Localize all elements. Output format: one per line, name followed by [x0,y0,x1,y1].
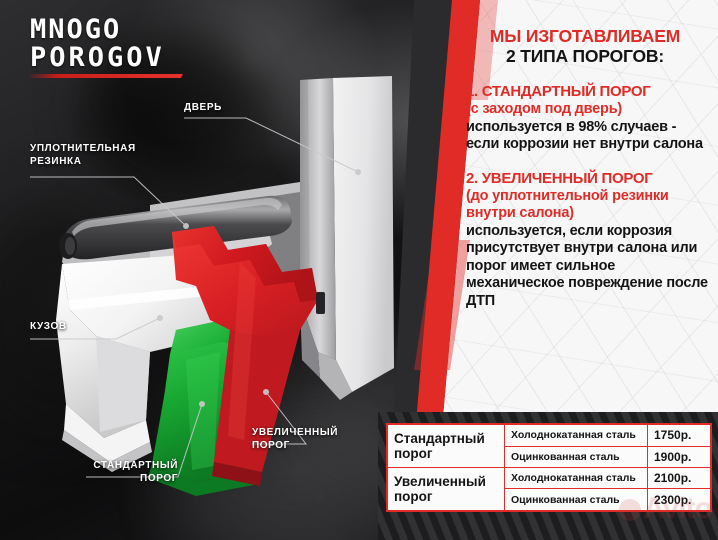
price-value: 2300р. [648,489,712,511]
info-block-body: используется в 98% случаев - если корроз… [466,119,710,154]
callout-label-increased-sill: УВЕЛИЧЕННЫЙ ПОРОГ [252,426,362,452]
table-row: Увеличенный порог Холоднокатанная сталь … [387,468,711,489]
table-row: Стандартный порог Холоднокатанная сталь … [387,424,711,446]
price-value: 1900р. [648,446,712,468]
callout-label-standard-sill: СТАНДАРТНЫЙ ПОРОГ [86,459,178,485]
logo-underline [29,74,183,78]
brand-logo: MNOGO POROGOV [30,16,182,78]
heading-line-black: 2 ТИПА ПОРОГОВ: [460,46,710,67]
logo-line-2: POROGOV [30,44,182,71]
price-value: 2100р. [648,468,712,489]
info-block-increased: 2. УВЕЛИЧЕННЫЙ ПОРОГ (до уплотнительной … [460,170,710,311]
price-category-standard: Стандартный порог [387,424,505,468]
price-material: Оцинкованная сталь [505,446,648,468]
info-panel-text: МЫ ИЗГОТАВЛИВАЕМ 2 ТИПА ПОРОГОВ: 1. СТАН… [460,0,718,310]
info-block-title: 1. СТАНДАРТНЫЙ ПОРОГ [466,83,710,101]
info-block-title: 2. УВЕЛИЧЕННЫЙ ПОРОГ [466,170,710,188]
advertisement-image: ДВЕРЬ УПЛОТНИТЕЛЬНАЯ РЕЗИНКА КУЗОВ СТАНД… [0,0,718,540]
callout-label-door: ДВЕРЬ [184,101,222,114]
callout-label-body: КУЗОВ [30,320,67,333]
info-block-standard: 1. СТАНДАРТНЫЙ ПОРОГ (с заходом под двер… [460,83,710,154]
price-material: Холоднокатанная сталь [505,424,648,446]
panel-heading: МЫ ИЗГОТАВЛИВАЕМ 2 ТИПА ПОРОГОВ: [460,26,710,67]
heading-line-red: МЫ ИЗГОТАВЛИВАЕМ [460,26,710,46]
callout-label-rubber-seal: УПЛОТНИТЕЛЬНАЯ РЕЗИНКА [30,142,136,168]
price-material: Холоднокатанная сталь [505,468,648,489]
logo-line-1: MNOGO [30,16,182,43]
price-material: Оцинкованная сталь [505,489,648,511]
info-block-body: используется, если коррозия присутствует… [466,223,710,311]
price-category-increased: Увеличенный порог [387,468,505,512]
info-block-subtitle: (до уплотнительной резинки внутри салона… [466,188,710,223]
price-table: Стандартный порог Холоднокатанная сталь … [386,423,712,512]
price-value: 1750р. [648,424,712,446]
info-block-subtitle: (с заходом под дверь) [466,101,710,119]
door-panel [300,76,394,400]
